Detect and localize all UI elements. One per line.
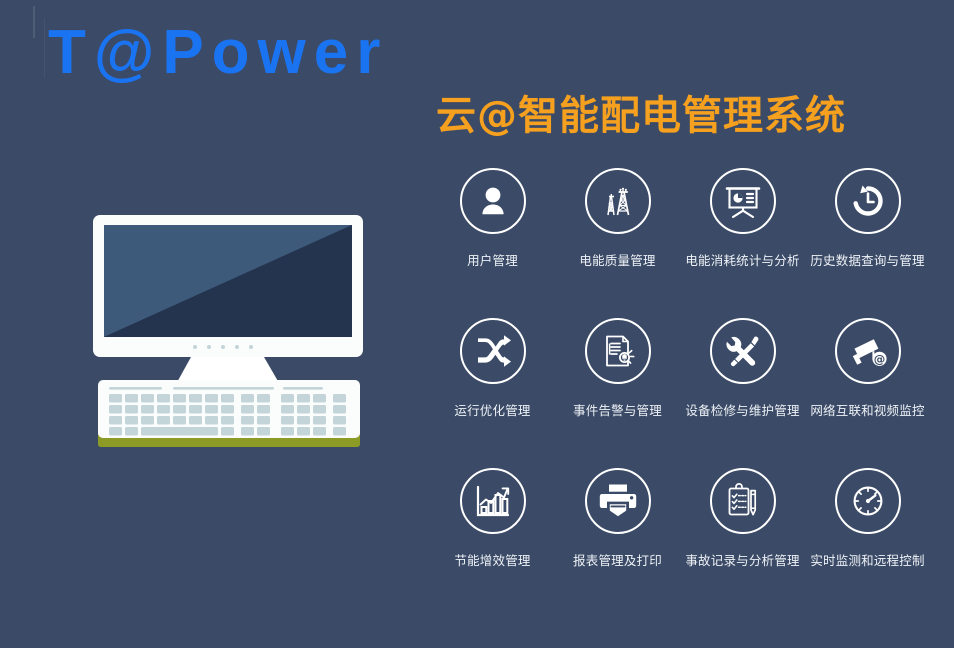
app-banner: T@Power 云@智能配电管理系统 <box>0 0 954 648</box>
shuffle-arrows-icon <box>460 318 526 384</box>
gauge-meter-icon <box>835 468 901 534</box>
feature-label: 节能增效管理 <box>454 550 530 569</box>
printer-icon <box>585 468 651 534</box>
wrench-screwdriver-icon <box>710 318 776 384</box>
monitor <box>93 215 363 357</box>
feature-item-user-management[interactable]: 用户管理 <box>430 168 555 318</box>
feature-label: 报表管理及打印 <box>573 550 662 569</box>
presentation-chart-icon <box>710 168 776 234</box>
feature-label: 电能质量管理 <box>579 250 655 269</box>
decorative-line-primary <box>33 6 35 38</box>
clipboard-checklist-icon <box>710 468 776 534</box>
feature-item-video-surveillance[interactable]: @ 网络互联和视频监控 <box>805 318 930 468</box>
feature-label: 运行优化管理 <box>454 400 530 419</box>
decorative-line-secondary <box>44 18 45 78</box>
user-icon <box>460 168 526 234</box>
feature-item-incident-records[interactable]: 事故记录与分析管理 <box>680 468 805 618</box>
feature-item-energy-saving[interactable]: 节能增效管理 <box>430 468 555 618</box>
feature-label: 用户管理 <box>467 250 518 269</box>
feature-item-event-alarm[interactable]: 事件告警与管理 <box>555 318 680 468</box>
document-alert-icon <box>585 318 651 384</box>
growth-chart-icon <box>460 468 526 534</box>
page-subtitle: 云@智能配电管理系统 <box>436 96 846 136</box>
feature-label: 事件告警与管理 <box>573 400 662 419</box>
feature-item-history-data[interactable]: 历史数据查询与管理 <box>805 168 930 318</box>
feature-label: 电能消耗统计与分析 <box>685 250 799 269</box>
feature-label: 历史数据查询与管理 <box>810 250 924 269</box>
feature-label: 设备检修与维护管理 <box>685 400 799 419</box>
feature-item-power-quality[interactable]: 电能质量管理 <box>555 168 680 318</box>
page-title: T@Power <box>48 22 388 84</box>
feature-item-operation-optimization[interactable]: 运行优化管理 <box>430 318 555 468</box>
svg-text:@: @ <box>873 352 885 366</box>
feature-item-maintenance[interactable]: 设备检修与维护管理 <box>680 318 805 468</box>
feature-label: 事故记录与分析管理 <box>685 550 799 569</box>
feature-label: 网络互联和视频监控 <box>810 400 924 419</box>
feature-icon-grid: 用户管理 <box>430 168 930 618</box>
history-clock-icon <box>835 168 901 234</box>
feature-item-report-print[interactable]: 报表管理及打印 <box>555 468 680 618</box>
power-tower-icon <box>585 168 651 234</box>
security-camera-at-icon: @ <box>835 318 901 384</box>
feature-label: 实时监测和远程控制 <box>810 550 924 569</box>
keyboard <box>98 380 360 447</box>
feature-item-consumption-analysis[interactable]: 电能消耗统计与分析 <box>680 168 805 318</box>
feature-item-realtime-monitoring[interactable]: 实时监测和远程控制 <box>805 468 930 618</box>
computer-illustration <box>80 205 390 545</box>
